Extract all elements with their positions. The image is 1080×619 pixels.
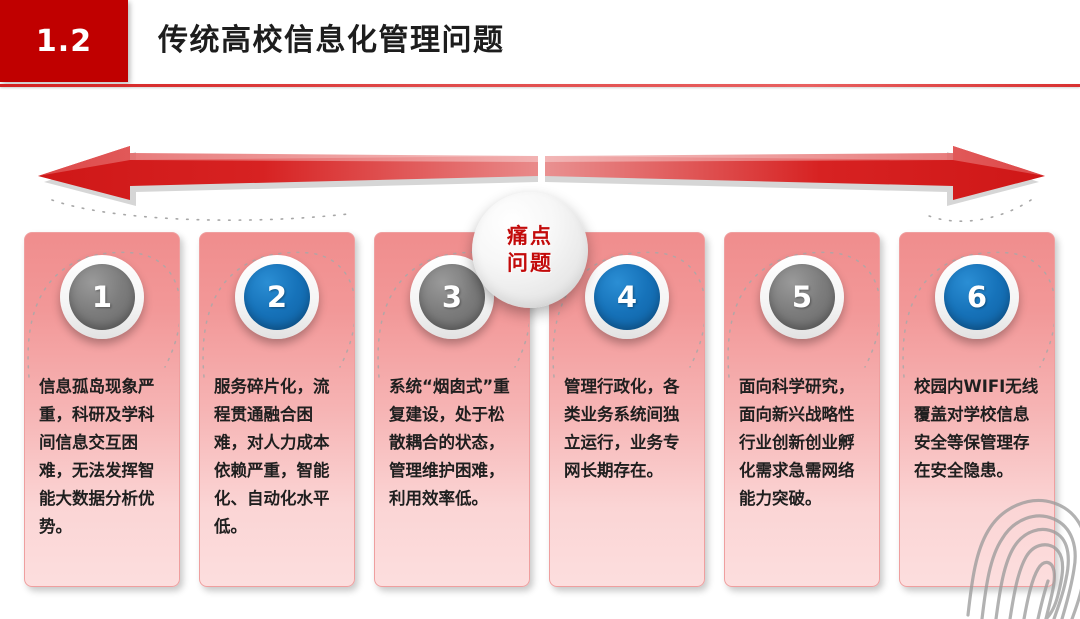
- problem-card-1[interactable]: 1 信息孤岛现象严重，科研及学科间信息交互困难，无法发挥智能大数据分析优势。: [24, 232, 180, 587]
- card-badge-1: 1: [60, 255, 144, 339]
- card-text-6: 校园内WIFI无线覆盖对学校信息安全等保管理存在安全隐患。: [914, 373, 1042, 485]
- card-number-6: 6: [944, 264, 1010, 330]
- slide-header: 1.2 传统高校信息化管理问题: [0, 0, 1080, 88]
- card-text-3: 系统“烟囱式”重复建设，处于松散耦合的状态，管理维护困难，利用效率低。: [389, 373, 517, 513]
- arrow-right-head-icon: [545, 96, 1065, 226]
- card-text-2: 服务碎片化，流程贯通融合困难，对人力成本依赖严重，智能化、自动化水平低。: [214, 373, 342, 541]
- center-circle-line-2: 问题: [507, 250, 553, 277]
- card-badge-5: 5: [760, 255, 844, 339]
- center-circle-line-1: 痛点: [507, 223, 553, 250]
- problem-card-5[interactable]: 5 面向科学研究，面向新兴战略性行业创新创业孵化需求急需网络能力突破。: [724, 232, 880, 587]
- card-badge-2: 2: [235, 255, 319, 339]
- card-number-5: 5: [769, 264, 835, 330]
- card-badge-4: 4: [585, 255, 669, 339]
- card-number-3: 3: [419, 264, 485, 330]
- header-divider-rule: [0, 84, 1080, 87]
- card-text-1: 信息孤岛现象严重，科研及学科间信息交互困难，无法发挥智能大数据分析优势。: [39, 373, 167, 541]
- arrow-band: 痛点 问题: [0, 96, 1080, 226]
- problem-card-2[interactable]: 2 服务碎片化，流程贯通融合困难，对人力成本依赖严重，智能化、自动化水平低。: [199, 232, 355, 587]
- page-title: 传统高校信息化管理问题: [158, 14, 505, 68]
- card-number-4: 4: [594, 264, 660, 330]
- card-text-4: 管理行政化，各类业务系统间独立运行，业务专网长期存在。: [564, 373, 692, 485]
- arrow-left-head-icon: [18, 96, 538, 226]
- section-number: 1.2: [0, 0, 128, 82]
- card-badge-6: 6: [935, 255, 1019, 339]
- card-number-2: 2: [244, 264, 310, 330]
- card-number-1: 1: [69, 264, 135, 330]
- center-pain-point-circle: 痛点 问题: [472, 192, 588, 308]
- card-text-5: 面向科学研究，面向新兴战略性行业创新创业孵化需求急需网络能力突破。: [739, 373, 867, 513]
